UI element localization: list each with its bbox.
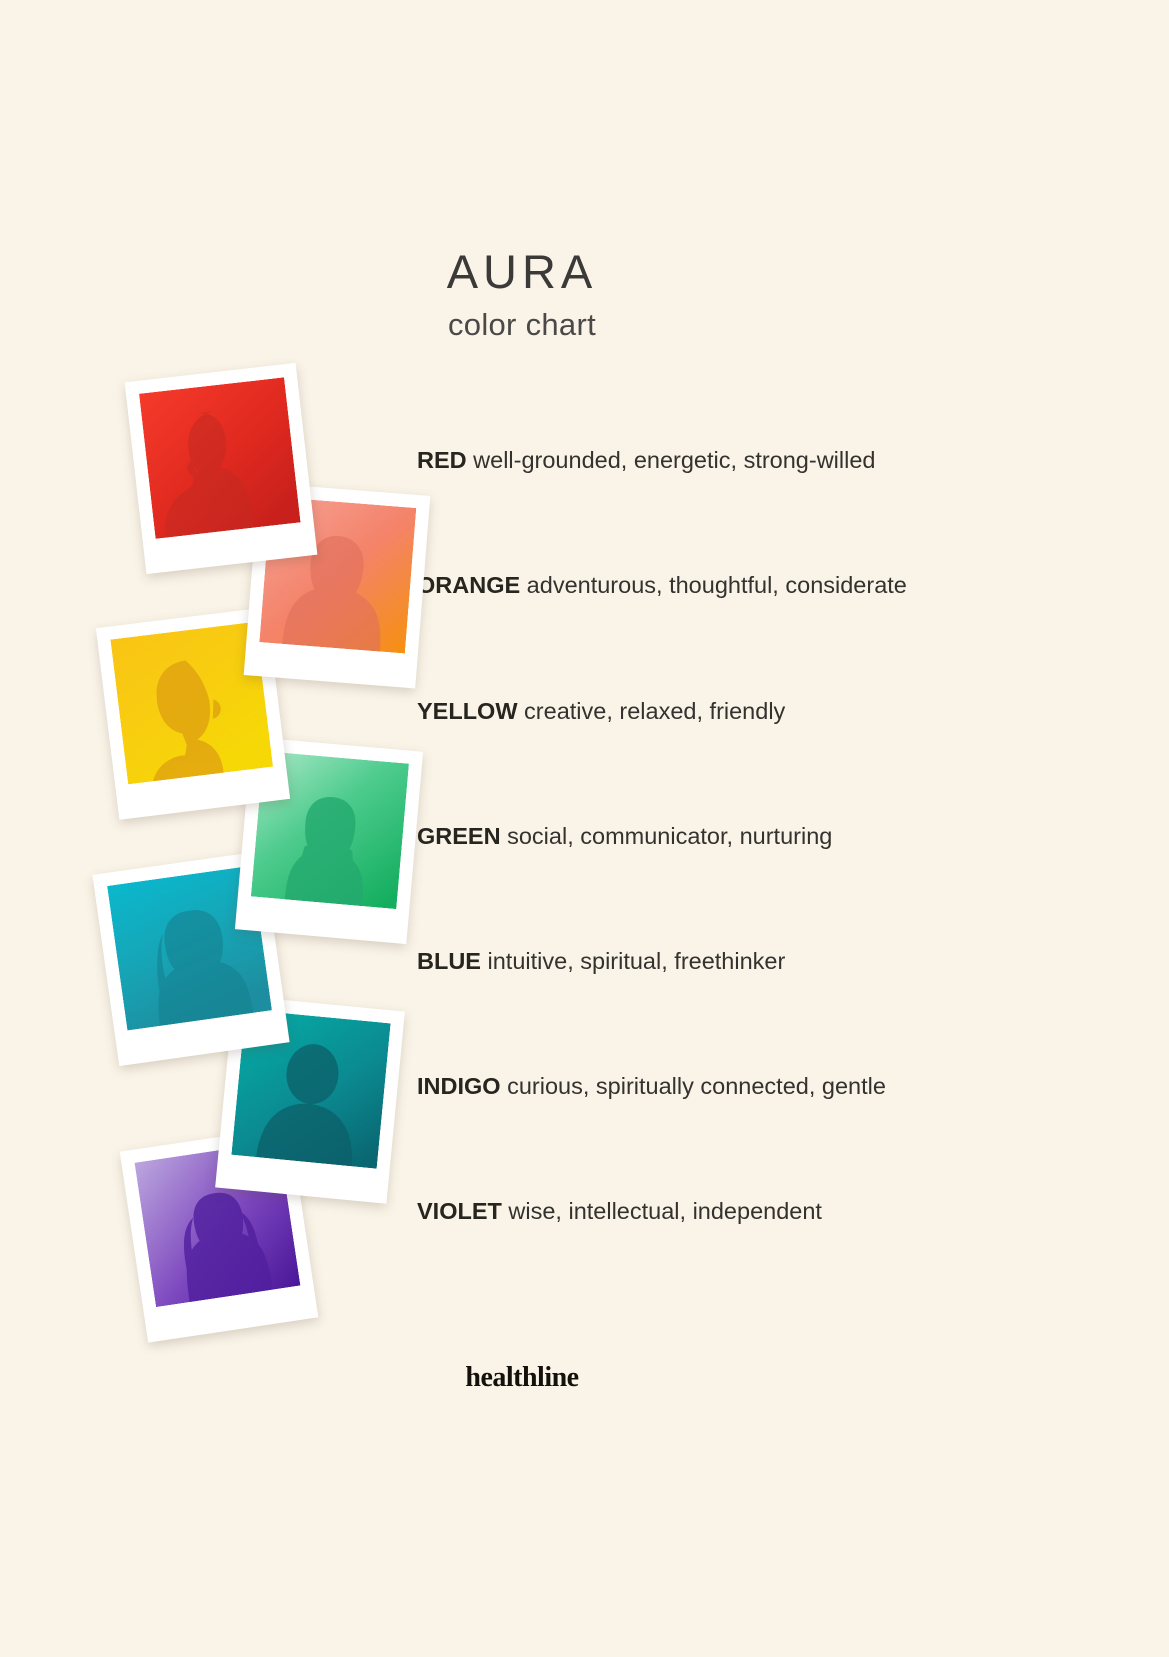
list-item: ORANGE adventurous, thoughtful, consider… (417, 574, 907, 598)
photo-red-aura-portrait (139, 377, 301, 539)
aura-color-name: BLUE (417, 948, 481, 974)
list-item: VIOLET wise, intellectual, independent (417, 1200, 822, 1224)
list-item: GREEN social, communicator, nurturing (417, 825, 832, 849)
aura-color-description: well-grounded, energetic, strong-willed (467, 447, 876, 473)
aura-color-description: curious, spiritually connected, gentle (501, 1073, 886, 1099)
footer: healthline (0, 1362, 1044, 1394)
aura-color-name: INDIGO (417, 1073, 501, 1099)
polaroid-red (125, 363, 318, 574)
list-item: RED well-grounded, energetic, strong-wil… (417, 449, 875, 473)
list-item: YELLOW creative, relaxed, friendly (417, 700, 785, 724)
polaroid-stack (0, 0, 430, 1657)
red-portrait-icon (139, 377, 301, 539)
aura-color-description: intuitive, spiritual, freethinker (481, 948, 785, 974)
aura-color-name: VIOLET (417, 1198, 502, 1224)
aura-color-description: wise, intellectual, independent (502, 1198, 822, 1224)
healthline-logo: healthline (0, 1362, 1044, 1394)
aura-color-name: GREEN (417, 823, 501, 849)
aura-color-description: social, communicator, nurturing (501, 823, 833, 849)
list-item: INDIGO curious, spiritually connected, g… (417, 1075, 886, 1099)
aura-color-name: ORANGE (417, 572, 520, 598)
infographic-page: AURA color chart (0, 0, 1169, 1657)
aura-color-description: adventurous, thoughtful, considerate (520, 572, 907, 598)
aura-color-description: creative, relaxed, friendly (518, 698, 786, 724)
aura-color-name: YELLOW (417, 698, 518, 724)
aura-color-name: RED (417, 447, 467, 473)
list-item: BLUE intuitive, spiritual, freethinker (417, 950, 785, 974)
